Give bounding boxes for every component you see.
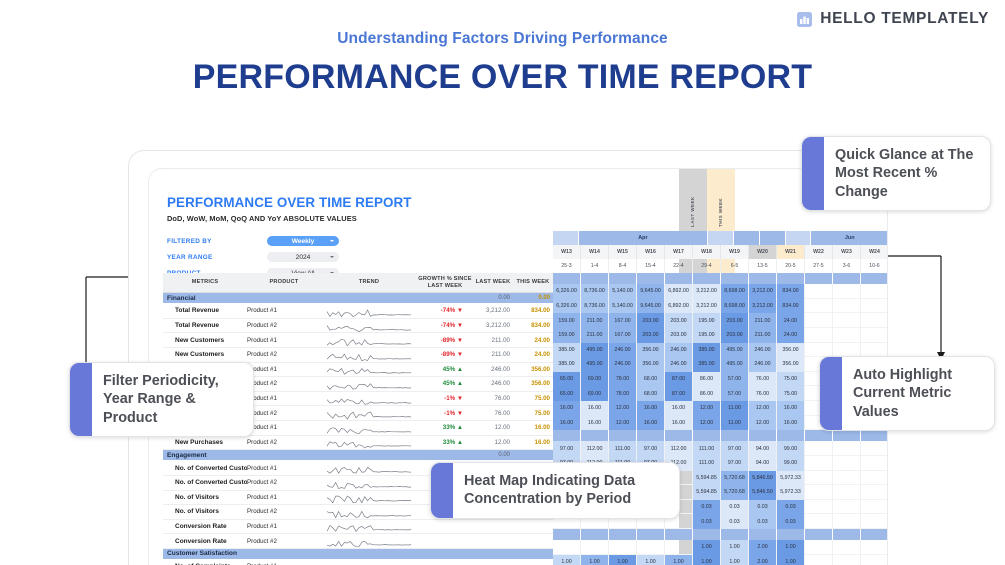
product-name: Product #2 (247, 351, 321, 358)
heatmap-cell: 76.00 (749, 386, 777, 401)
heatmap-cell: 495.00 (581, 357, 609, 372)
heatmap-cell (833, 514, 861, 529)
last-week-value: 12.00 (473, 439, 513, 446)
heatmap-cell: 6,892.00 (665, 284, 693, 299)
heatmap-cell: 1.00 (553, 555, 581, 565)
date-header-cell: 13-5 (749, 259, 777, 273)
this-week-value: 834.00 (513, 322, 553, 329)
week-header-cell: W19 (721, 245, 749, 259)
product-name: Product #1 (247, 395, 321, 402)
callout-quick-glance: Quick Glance at The Most Recent % Change (801, 136, 991, 211)
product-name: Product #1 (247, 424, 321, 431)
heatmap-band-cell (637, 529, 665, 540)
heatmap-band-cell (861, 529, 888, 540)
table-row[interactable]: Conversion RateProduct #1 (163, 520, 553, 535)
heatmap-cell: 16.00 (581, 416, 609, 431)
this-week-value: 24.00 (513, 337, 553, 344)
heatmap-cell: 1.00 (777, 555, 805, 565)
heatmap-band-cell (609, 273, 637, 284)
heatmap-cell (833, 500, 861, 515)
heatmap-cell (581, 540, 609, 555)
week-header-cell: W21 (777, 245, 805, 259)
date-header-cell: 3-6 (833, 259, 861, 273)
this-week-value: 834.00 (513, 307, 553, 314)
heatmap-band-cell (693, 430, 721, 441)
heatmap-cell: 6,892.00 (665, 299, 693, 314)
last-week-value: 76.00 (473, 395, 513, 402)
callout-text: Auto Highlight Current Metric Values (842, 357, 994, 430)
product-name: Product #2 (247, 439, 321, 446)
heatmap-cell (805, 343, 833, 358)
growth-percent: -1% ▼ (417, 410, 473, 417)
heatmap-cell (553, 540, 581, 555)
heatmap-cell: 834.00 (777, 284, 805, 299)
heatmap-cell: 356.00 (637, 357, 665, 372)
heatmap-row: 6,326.008,736.005,140.009,645.006,892.00… (553, 284, 888, 299)
heatmap-cell (609, 540, 637, 555)
filter-value: 2024 (296, 254, 311, 261)
product-name: Product #1 (247, 366, 321, 373)
heatmap-cell: 6,326.00 (553, 299, 581, 314)
heatmap-cell: 16.00 (777, 416, 805, 431)
heatmap-row: 1.001.001.001.001.001.001.002.001.00 (553, 555, 888, 565)
column-header: GROWTH % SINCE LAST WEEK (417, 276, 473, 289)
last-week-value: 12.00 (473, 424, 513, 431)
report-subtitle: DoD, WoW, MoM, QoQ AND YoY ABSOLUTE VALU… (167, 214, 547, 223)
heatmap-cell: 16.00 (665, 401, 693, 416)
heatmap-band-cell (553, 430, 581, 441)
heatmap-cell: 211.00 (581, 313, 609, 328)
heatmap-cell: 94.00 (749, 456, 777, 471)
heatmap-cell: 76.00 (749, 372, 777, 387)
heatmap-cell (861, 328, 888, 343)
filter-dropdown[interactable]: 2024 (267, 252, 339, 262)
heatmap-cell: 5,846.50 (749, 485, 777, 500)
trend-sparkline (321, 435, 417, 449)
heatmap-cell: 1.00 (637, 555, 665, 565)
heatmap-band-cell (777, 529, 805, 540)
heatmap-cell (805, 540, 833, 555)
heatmap-cell (833, 540, 861, 555)
this-week-value: 75.00 (513, 410, 553, 417)
trend-sparkline (321, 490, 417, 504)
heatmap-cell: 9,645.00 (637, 284, 665, 299)
heatmap-band-cell (693, 273, 721, 284)
column-header: PRODUCT (247, 279, 321, 285)
report-title: PERFORMANCE OVER TIME REPORT (167, 195, 547, 210)
heatmap-cell: 69.00 (581, 372, 609, 387)
heatmap-cell (861, 555, 888, 565)
heatmap-cell: 211.00 (581, 328, 609, 343)
heatmap-cell: 65.00 (553, 372, 581, 387)
this-week-value: 356.00 (513, 380, 553, 387)
table-row[interactable]: Total RevenueProduct #2-74% ▼3,212.00834… (163, 319, 553, 334)
heatmap-band-cell (581, 430, 609, 441)
product-name: Product #1 (247, 494, 321, 501)
heatmap-band-cell (777, 430, 805, 441)
callout-auto-highlight: Auto Highlight Current Metric Values (819, 356, 995, 431)
week-header-cell: W23 (833, 245, 861, 259)
heatmap-cell (805, 514, 833, 529)
heatmap-cell (833, 313, 861, 328)
week-header-cell: W14 (581, 245, 609, 259)
brand-logo: HELLO TEMPLATELY (797, 10, 989, 28)
month-band: AprJun (553, 231, 888, 245)
section-header-row: Customer Satisfaction (163, 549, 553, 560)
heatmap-cell: 8,698.00 (721, 284, 749, 299)
heatmap-cell (805, 284, 833, 299)
bar-chart-icon (797, 12, 812, 27)
heatmap-cell: 385.00 (553, 357, 581, 372)
heatmap-band-cell (805, 273, 833, 284)
heatmap-cell: 203.00 (721, 328, 749, 343)
heatmap-cell: 3,212.00 (749, 299, 777, 314)
metric-name: Conversion Rate (163, 523, 247, 530)
section-header-row: Engagement0.00 (163, 450, 553, 461)
section-name: Financial (163, 295, 417, 302)
slide-title: PERFORMANCE OVER TIME REPORT (0, 58, 1005, 97)
heatmap-row: 385.00495.00246.00356.00246.00385.00495.… (553, 343, 888, 358)
heatmap-cell: 12.00 (749, 401, 777, 416)
heatmap-cell: 246.00 (665, 357, 693, 372)
month-label (708, 231, 734, 245)
heatmap-cell: 2.00 (749, 555, 777, 565)
heatmap-cell: 195.00 (693, 313, 721, 328)
column-header: TREND (321, 279, 417, 285)
heatmap-band-cell (721, 529, 749, 540)
filter-row-0: FILTERED BYWeekly (167, 235, 547, 247)
heatmap-cell (805, 299, 833, 314)
heatmap-cell: 3,212.00 (693, 299, 721, 314)
trend-sparkline (321, 421, 417, 435)
heatmap-cell (805, 313, 833, 328)
heatmap-cell (861, 514, 888, 529)
heatmap-band-cell (777, 273, 805, 284)
heatmap-cell (637, 540, 665, 555)
growth-percent: -1% ▼ (417, 395, 473, 402)
heatmap-cell (833, 456, 861, 471)
heatmap-cell: 246.00 (749, 343, 777, 358)
heatmap-cell: 0.03 (721, 500, 749, 515)
product-name: Product #2 (247, 322, 321, 329)
chevron-down-icon (330, 240, 334, 242)
this-week-value: 16.00 (513, 424, 553, 431)
heatmap-cell: 834.00 (777, 299, 805, 314)
callout-accent-bar (70, 363, 92, 436)
heatmap-cell: 112.00 (665, 441, 693, 456)
heatmap-band-cell (609, 529, 637, 540)
heatmap-band-cell (665, 529, 693, 540)
callout-accent-bar (802, 137, 824, 210)
trend-sparkline (321, 304, 417, 318)
heatmap-cell (805, 500, 833, 515)
heatmap-cell (833, 343, 861, 358)
heatmap-cell: 0.03 (749, 514, 777, 529)
last-week-value: 211.00 (473, 351, 513, 358)
heatmap-cell: 0.03 (749, 500, 777, 515)
heatmap-band-cell (861, 430, 888, 441)
heatmap-cell (861, 343, 888, 358)
table-row[interactable]: New PurchasesProduct #233% ▲12.0016.00 (163, 436, 553, 451)
heatmap-cell: 246.00 (749, 357, 777, 372)
heatmap-band-cell (721, 273, 749, 284)
heatmap-band-cell (665, 430, 693, 441)
section-last-week: 0.00 (473, 295, 513, 301)
heatmap-cell: 65.00 (553, 386, 581, 401)
heatmap-band-cell (749, 273, 777, 284)
table-row[interactable]: Total RevenueProduct #1-74% ▼3,212.00834… (163, 304, 553, 319)
section-last-week: 0.00 (473, 452, 513, 458)
callout-filter: Filter Periodicity, Year Range & Product (69, 362, 254, 437)
heatmap-cell: 97.00 (637, 441, 665, 456)
heatmap-cell: 0.03 (693, 500, 721, 515)
month-label: Jun (811, 231, 888, 245)
week-header-cell: W16 (637, 245, 665, 259)
heatmap-cell (805, 328, 833, 343)
heatmap-cell: 5,972.33 (777, 471, 805, 486)
heatmap-cell: 24.00 (777, 328, 805, 343)
heatmap-band-cell (749, 430, 777, 441)
slide-canvas: HELLO TEMPLATELY Understanding Factors D… (0, 0, 1005, 565)
product-name: Product #2 (247, 508, 321, 515)
heatmap-cell: 167.00 (609, 313, 637, 328)
trend-sparkline (321, 333, 417, 347)
heatmap-band-cell (581, 529, 609, 540)
table-row[interactable]: Conversion RateProduct #2 (163, 534, 553, 549)
heatmap-cell (833, 471, 861, 486)
metric-name: No. of Converted Customers (163, 465, 247, 472)
heatmap-cell (805, 555, 833, 565)
callout-accent-bar (431, 463, 453, 518)
heatmap-cell: 385.00 (693, 343, 721, 358)
trend-sparkline (321, 560, 417, 565)
heatmap-cell: 495.00 (721, 343, 749, 358)
heatmap-cell: 2.00 (749, 540, 777, 555)
table-row[interactable]: New CustomersProduct #1-89% ▼211.0024.00 (163, 333, 553, 348)
heatmap-cell (805, 471, 833, 486)
month-label (760, 231, 786, 245)
heatmap-cell: 211.00 (749, 328, 777, 343)
heatmap-cell: 57.00 (721, 372, 749, 387)
heatmap-cell: 1.00 (665, 555, 693, 565)
trend-sparkline (321, 534, 417, 548)
last-week-value: 246.00 (473, 380, 513, 387)
growth-percent: 45% ▲ (417, 366, 473, 373)
heatmap-cell: 5,720.68 (721, 485, 749, 500)
heatmap-cell: 9,645.00 (637, 299, 665, 314)
heatmap-cell: 87.00 (665, 372, 693, 387)
heatmap-cell: 5,594.85 (693, 485, 721, 500)
heatmap-cell: 203.00 (665, 313, 693, 328)
filter-value: Weekly (292, 238, 315, 245)
heatmap-cell (861, 500, 888, 515)
brand-name: HELLO TEMPLATELY (820, 10, 989, 28)
heatmap-row: 97.00112.00111.0097.00112.00111.0097.009… (553, 441, 888, 456)
date-header-row: 25-31-48-415-422-429-46-513-520-527-53-6… (553, 259, 888, 273)
heatmap-cell (833, 328, 861, 343)
date-header-cell: 20-5 (777, 259, 805, 273)
heatmap-cell: 112.00 (581, 441, 609, 456)
heatmap-cell: 159.00 (553, 328, 581, 343)
week-header-row: W13W14W15W16W17W18W19W20W21W22W23W24 (553, 245, 888, 259)
heatmap-cell: 203.00 (721, 313, 749, 328)
last-week-value: 76.00 (473, 410, 513, 417)
date-header-cell: 22-4 (665, 259, 693, 273)
trend-sparkline (321, 377, 417, 391)
column-header: THIS WEEK (513, 279, 553, 285)
heatmap-cell (805, 456, 833, 471)
trend-sparkline (321, 505, 417, 519)
filter-dropdown[interactable]: Weekly (267, 236, 339, 246)
callout-text: Heat Map Indicating Data Concentration b… (453, 463, 679, 518)
heatmap-cell (833, 441, 861, 456)
heatmap-cell: 94.00 (749, 441, 777, 456)
heatmap-cell: 8,736.00 (581, 284, 609, 299)
heatmap-cell (665, 540, 693, 555)
heatmap-cell: 97.00 (553, 441, 581, 456)
date-header-cell: 15-4 (637, 259, 665, 273)
heatmap-cell: 57.00 (721, 386, 749, 401)
filter-row-1: YEAR RANGE2024 (167, 251, 547, 263)
section-name: Engagement (163, 452, 417, 459)
heatmap-cell: 0.03 (693, 514, 721, 529)
heatmap-cell: 86.00 (693, 372, 721, 387)
heatmap-cell: 0.03 (721, 514, 749, 529)
heatmap-cell: 69.00 (581, 386, 609, 401)
heatmap-cell: 246.00 (665, 343, 693, 358)
heatmap-cell: 111.00 (693, 456, 721, 471)
heatmap-cell (833, 485, 861, 500)
heatmap-band-cell (805, 529, 833, 540)
date-header-cell: 25-3 (553, 259, 581, 273)
trend-sparkline (321, 476, 417, 490)
heatmap-cell: 99.00 (777, 456, 805, 471)
heatmap-cell: 16.00 (581, 401, 609, 416)
heatmap-cell (833, 299, 861, 314)
trend-sparkline (321, 461, 417, 475)
heatmap-cell: 12.00 (749, 416, 777, 431)
heatmap-band-cell (581, 273, 609, 284)
heatmap-cell: 1.00 (693, 555, 721, 565)
heatmap-cell: 203.00 (637, 313, 665, 328)
last-week-value: 211.00 (473, 337, 513, 344)
heatmap-band-cell (805, 430, 833, 441)
heatmap-cell: 1.00 (609, 555, 637, 565)
trend-sparkline (321, 319, 417, 333)
week-header-cell: W22 (805, 245, 833, 259)
heatmap-cell: 12.00 (693, 416, 721, 431)
this-week-value: 24.00 (513, 351, 553, 358)
heatmap-band-cell (749, 529, 777, 540)
heatmap-cell: 356.00 (777, 343, 805, 358)
heatmap-cell: 3,212.00 (749, 284, 777, 299)
month-label (553, 231, 579, 245)
date-header-cell: 10-6 (861, 259, 888, 273)
heatmap-band-cell (665, 273, 693, 284)
heatmap-cell: 111.00 (609, 441, 637, 456)
product-name: Product #2 (247, 538, 321, 545)
table-header-row: METRICSPRODUCTTRENDGROWTH % SINCE LAST W… (163, 273, 553, 293)
slide-subtitle: Understanding Factors Driving Performanc… (0, 30, 1005, 48)
week-header-cell: W13 (553, 245, 581, 259)
heatmap-cell: 87.00 (665, 386, 693, 401)
heatmap-cell: 97.00 (721, 456, 749, 471)
heatmap-band-cell (637, 273, 665, 284)
heatmap-band-cell (693, 529, 721, 540)
heatmap-cell: 11.00 (721, 416, 749, 431)
heatmap-cell: 203.00 (637, 328, 665, 343)
week-header-cell: W20 (749, 245, 777, 259)
heatmap-cell: 246.00 (609, 343, 637, 358)
heatmap-cell (861, 540, 888, 555)
week-header-cell: W17 (665, 245, 693, 259)
heatmap-cell: 16.00 (637, 401, 665, 416)
table-row[interactable]: New CustomersProduct #2-89% ▼211.0024.00 (163, 348, 553, 363)
heatmap-band-cell (637, 430, 665, 441)
growth-percent: -89% ▼ (417, 337, 473, 344)
heatmap-cell (861, 313, 888, 328)
heatmap-cell: 24.00 (777, 313, 805, 328)
heatmap-cell (861, 284, 888, 299)
last-week-value: 3,212.00 (473, 307, 513, 314)
table-row[interactable]: No. of ComplaintsProduct #1 (163, 560, 553, 565)
heatmap-section-band (553, 430, 888, 441)
heatmap-cell: 97.00 (721, 441, 749, 456)
heatmap-cell: 12.00 (693, 401, 721, 416)
last-week-value: 246.00 (473, 366, 513, 373)
date-header-cell: 29-4 (693, 259, 721, 273)
heatmap-cell: 99.00 (777, 441, 805, 456)
metric-name: No. of Converted Customers (163, 479, 247, 486)
section-header-row: Financial0.000.00 (163, 293, 553, 304)
metric-name: No. of Visitors (163, 508, 247, 515)
heatmap-cell: 5,972.33 (777, 485, 805, 500)
heatmap-cell: 6,326.00 (553, 284, 581, 299)
heatmap-cell (833, 284, 861, 299)
heatmap-cell: 385.00 (693, 357, 721, 372)
section-name: Customer Satisfaction (163, 550, 417, 557)
heatmap-row: 6,326.008,736.005,140.009,645.006,892.00… (553, 299, 888, 314)
trend-sparkline (321, 348, 417, 362)
date-header-cell: 1-4 (581, 259, 609, 273)
growth-percent: -74% ▼ (417, 322, 473, 329)
heatmap-band-cell (721, 430, 749, 441)
growth-percent: -89% ▼ (417, 351, 473, 358)
metric-name: Total Revenue (163, 322, 247, 329)
growth-percent: 45% ▲ (417, 380, 473, 387)
trend-sparkline (321, 392, 417, 406)
heatmap-band-cell (609, 430, 637, 441)
heatmap-cell: 356.00 (777, 357, 805, 372)
heatmap-cell: 495.00 (721, 357, 749, 372)
date-header-cell: 8-4 (609, 259, 637, 273)
heatmap-cell: 211.00 (749, 313, 777, 328)
heatmap-cell: 1.00 (581, 555, 609, 565)
product-name: Product #1 (247, 307, 321, 314)
heatmap-cell: 159.00 (553, 313, 581, 328)
month-label: Apr (579, 231, 708, 245)
heatmap-cell: 385.00 (553, 343, 581, 358)
this-week-vertical-label: THIS WEEK (718, 198, 723, 227)
heatmap-cell (861, 441, 888, 456)
heatmap-cell: 5,720.68 (721, 471, 749, 486)
heatmap-cell: 12.00 (609, 416, 637, 431)
callout-accent-bar (820, 357, 842, 430)
week-header-cell: W18 (693, 245, 721, 259)
heatmap-cell (833, 555, 861, 565)
section-this-week: 0.00 (513, 295, 553, 301)
heatmap-cell: 0.03 (777, 500, 805, 515)
